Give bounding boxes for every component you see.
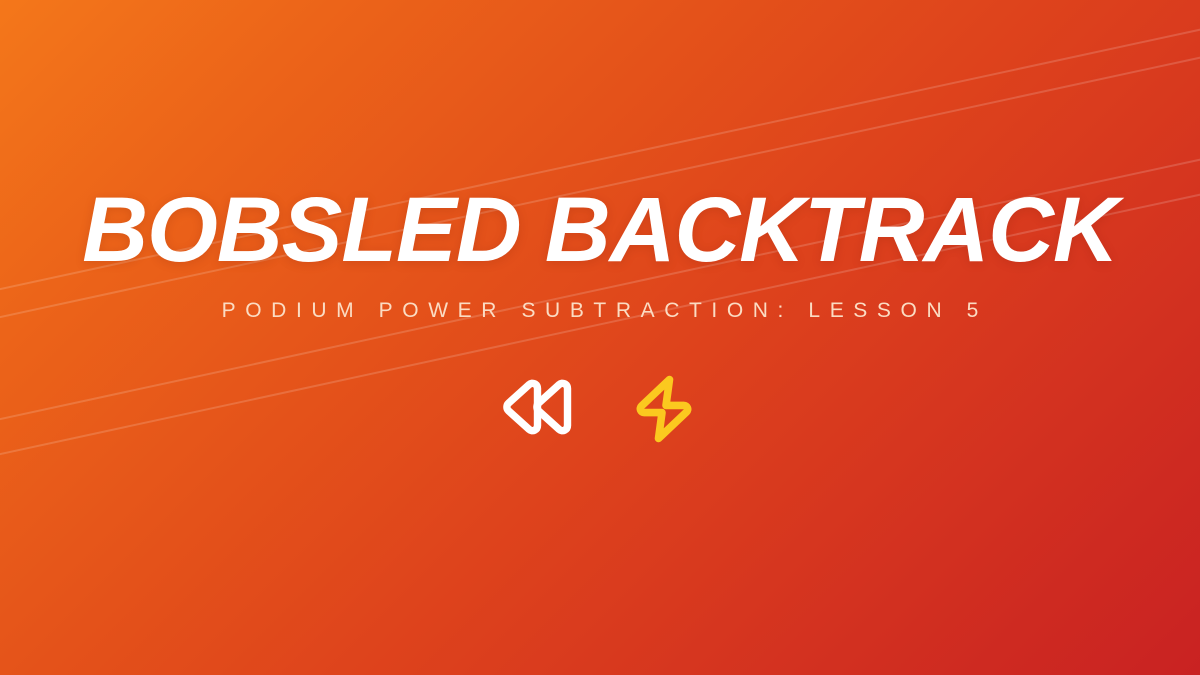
slide-title: BOBSLED BACKTRACK: [82, 184, 1118, 276]
slide-subtitle: PODIUM POWER SUBTRACTION: LESSON 5: [212, 300, 988, 321]
icon-row: [501, 373, 699, 445]
title-slide: BOBSLED BACKTRACK PODIUM POWER SUBTRACTI…: [0, 0, 1200, 675]
slide-content: BOBSLED BACKTRACK PODIUM POWER SUBTRACTI…: [0, 0, 1200, 675]
rewind-icon: [501, 376, 577, 442]
lightning-bolt-icon: [629, 373, 699, 445]
